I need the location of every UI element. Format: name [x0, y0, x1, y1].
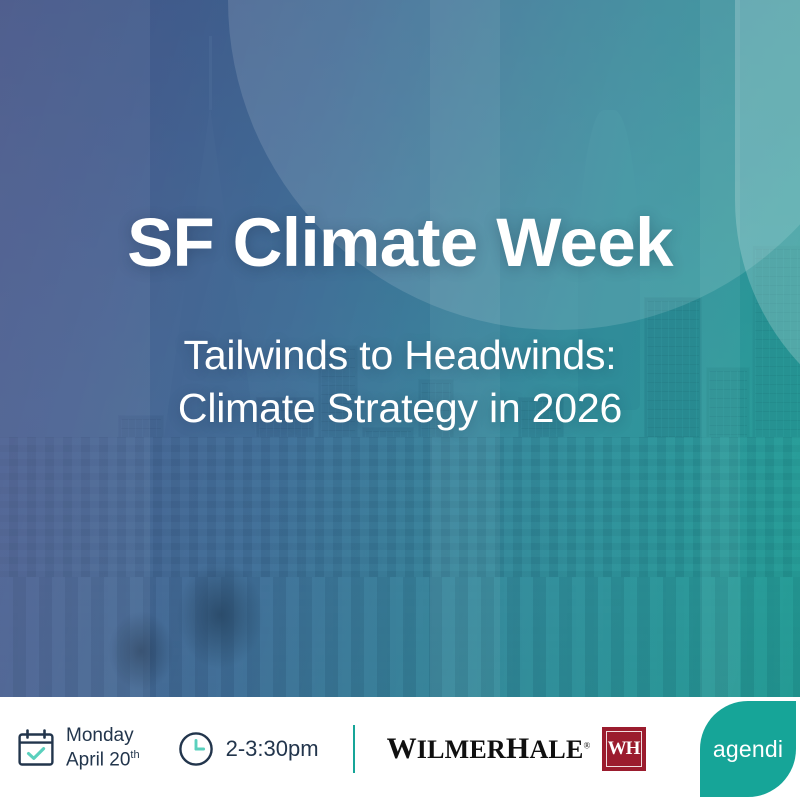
clock-icon: [178, 731, 214, 767]
page-title: SF Climate Week: [0, 206, 800, 279]
wh-word-h: H: [506, 732, 530, 765]
subtitle-line-2: Climate Strategy in 2026: [0, 382, 800, 435]
footer-bar: Monday April 20th 2-3:30pm WILMERHALE® W…: [0, 697, 800, 800]
event-date: Monday April 20th: [18, 724, 140, 773]
wilmerhale-wordmark: WILMERHALE®: [387, 732, 591, 766]
event-date-weekday: Monday: [66, 724, 140, 748]
wilmerhale-monogram-text: WH: [602, 727, 646, 771]
wilmerhale-monogram: WH: [602, 727, 646, 771]
agendi-logo[interactable]: agendi: [700, 701, 796, 797]
event-date-day: April 20th: [66, 748, 140, 773]
subtitle-line-1: Tailwinds to Headwinds:: [0, 329, 800, 382]
calendar-check-icon: [18, 729, 54, 767]
registered-trademark-symbol: ®: [584, 740, 591, 750]
event-poster: SF Climate Week Tailwinds to Headwinds: …: [0, 0, 800, 800]
date-ordinal-suffix: th: [130, 749, 139, 761]
page-subtitle: Tailwinds to Headwinds: Climate Strategy…: [0, 329, 800, 436]
hero-copy: SF Climate Week Tailwinds to Headwinds: …: [0, 206, 800, 436]
hero-banner: SF Climate Week Tailwinds to Headwinds: …: [0, 0, 800, 697]
wh-word-ilmer: ILMER: [417, 735, 506, 764]
agendi-logo-text: agendi: [713, 736, 783, 763]
wh-word-ale: ALE: [529, 735, 583, 764]
event-date-text: Monday April 20th: [66, 724, 140, 773]
event-time: 2-3:30pm: [178, 731, 319, 767]
wh-word-w: W: [387, 732, 417, 765]
footer-divider: [353, 725, 355, 773]
wilmerhale-logo: WILMERHALE® WH: [387, 727, 646, 771]
event-time-text: 2-3:30pm: [226, 736, 319, 762]
